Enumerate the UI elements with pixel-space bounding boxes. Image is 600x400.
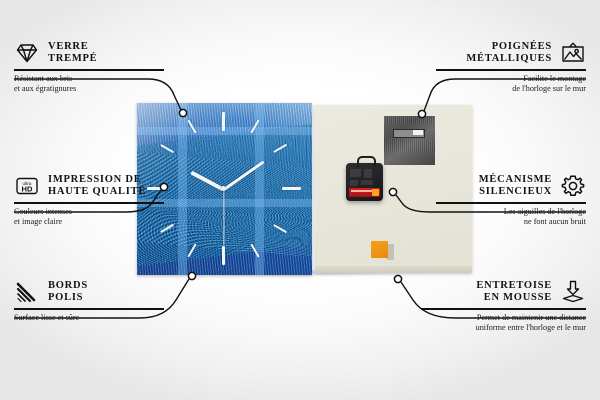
callout-header: BORDSPOLIS	[14, 279, 164, 305]
clock-hands-hub	[221, 186, 226, 191]
movement-detail	[350, 169, 361, 177]
metal-grain-texture	[384, 116, 435, 165]
hour-marker-12	[222, 112, 225, 131]
second-hand	[223, 190, 224, 245]
callout-title: IMPRESSION DEHAUTE QUALITÉ	[48, 174, 146, 199]
callout-header: ENTRETOISEEN MOUSSE	[421, 279, 586, 305]
hour-marker-3	[282, 187, 301, 190]
callout-title: MÉCANISMESILENCIEUX	[479, 174, 552, 199]
callout-description: Couleurs intenseset image claire	[14, 207, 164, 228]
callout-description: Résistant aux briset aux égratignures	[14, 74, 164, 95]
callout-verre-trempe[interactable]: VERRETREMPÉ Résistant aux briset aux égr…	[14, 40, 164, 95]
ultra-hd-icon: ultra HD	[14, 173, 40, 199]
battery-plus-terminal	[372, 189, 379, 196]
callout-poignees-metalliques[interactable]: POIGNÉESMÉTALLIQUES Facilite le montaged…	[436, 40, 586, 95]
gear-icon	[560, 173, 586, 199]
movement-detail	[350, 180, 358, 186]
callout-mecanisme-silencieux[interactable]: MÉCANISMESILENCIEUX Les aiguilles de l'h…	[436, 173, 586, 228]
callout-entretoise-en-mousse[interactable]: ENTRETOISEEN MOUSSE Permet de maintenir …	[421, 279, 586, 334]
movement-detail	[361, 180, 373, 185]
callout-rule	[436, 69, 586, 71]
foam-spacer-shadow	[387, 244, 394, 260]
picture-frame-hanger-icon	[560, 40, 586, 66]
callout-title: BORDSPOLIS	[48, 280, 88, 305]
callout-description: Facilite le montagede l'horloge sur le m…	[436, 74, 586, 95]
callout-title: VERRETREMPÉ	[48, 41, 97, 66]
callout-rule	[14, 308, 164, 310]
callout-rule	[421, 308, 586, 310]
hour-marker-6	[222, 246, 225, 265]
callout-rule	[436, 202, 586, 204]
movement-detail	[364, 169, 372, 178]
keyhole-hole	[413, 130, 423, 135]
product-illustration	[137, 103, 472, 278]
svg-text:HD: HD	[22, 185, 33, 194]
callout-header: VERRETREMPÉ	[14, 40, 164, 66]
quartz-clock-movement	[346, 163, 383, 201]
back-panel-edge	[315, 266, 472, 273]
callout-rule	[14, 202, 164, 204]
aa-battery	[349, 188, 380, 197]
keyhole-slot	[393, 129, 425, 138]
callout-title: POIGNÉESMÉTALLIQUES	[466, 41, 552, 66]
infographic-canvas: VERRETREMPÉ Résistant aux briset aux égr…	[0, 0, 600, 400]
callout-description: Permet de maintenir une distanceuniforme…	[421, 313, 586, 334]
callout-header: ultra HD IMPRESSION DEHAUTE QUALITÉ	[14, 173, 164, 199]
callout-title: ENTRETOISEEN MOUSSE	[476, 280, 552, 305]
diagonal-stripes-icon	[14, 279, 40, 305]
diamond-icon	[14, 40, 40, 66]
movement-hanger-loop	[357, 156, 376, 167]
callout-bords-polis[interactable]: BORDSPOLIS Surface lisse et sûre	[14, 279, 164, 323]
orange-foam-spacer	[371, 241, 388, 258]
arrow-down-pad-icon	[560, 279, 586, 305]
callout-description: Surface lisse et sûre	[14, 313, 164, 324]
callout-header: MÉCANISMESILENCIEUX	[436, 173, 586, 199]
metal-hanger-plate	[384, 116, 435, 165]
callout-header: POIGNÉESMÉTALLIQUES	[436, 40, 586, 66]
callout-description: Les aiguilles de l'horlogene font aucun …	[436, 207, 586, 228]
battery-label-stripe	[351, 190, 373, 192]
callout-impression-haute-qualite[interactable]: ultra HD IMPRESSION DEHAUTE QUALITÉ Coul…	[14, 173, 164, 228]
callout-rule	[14, 69, 164, 71]
